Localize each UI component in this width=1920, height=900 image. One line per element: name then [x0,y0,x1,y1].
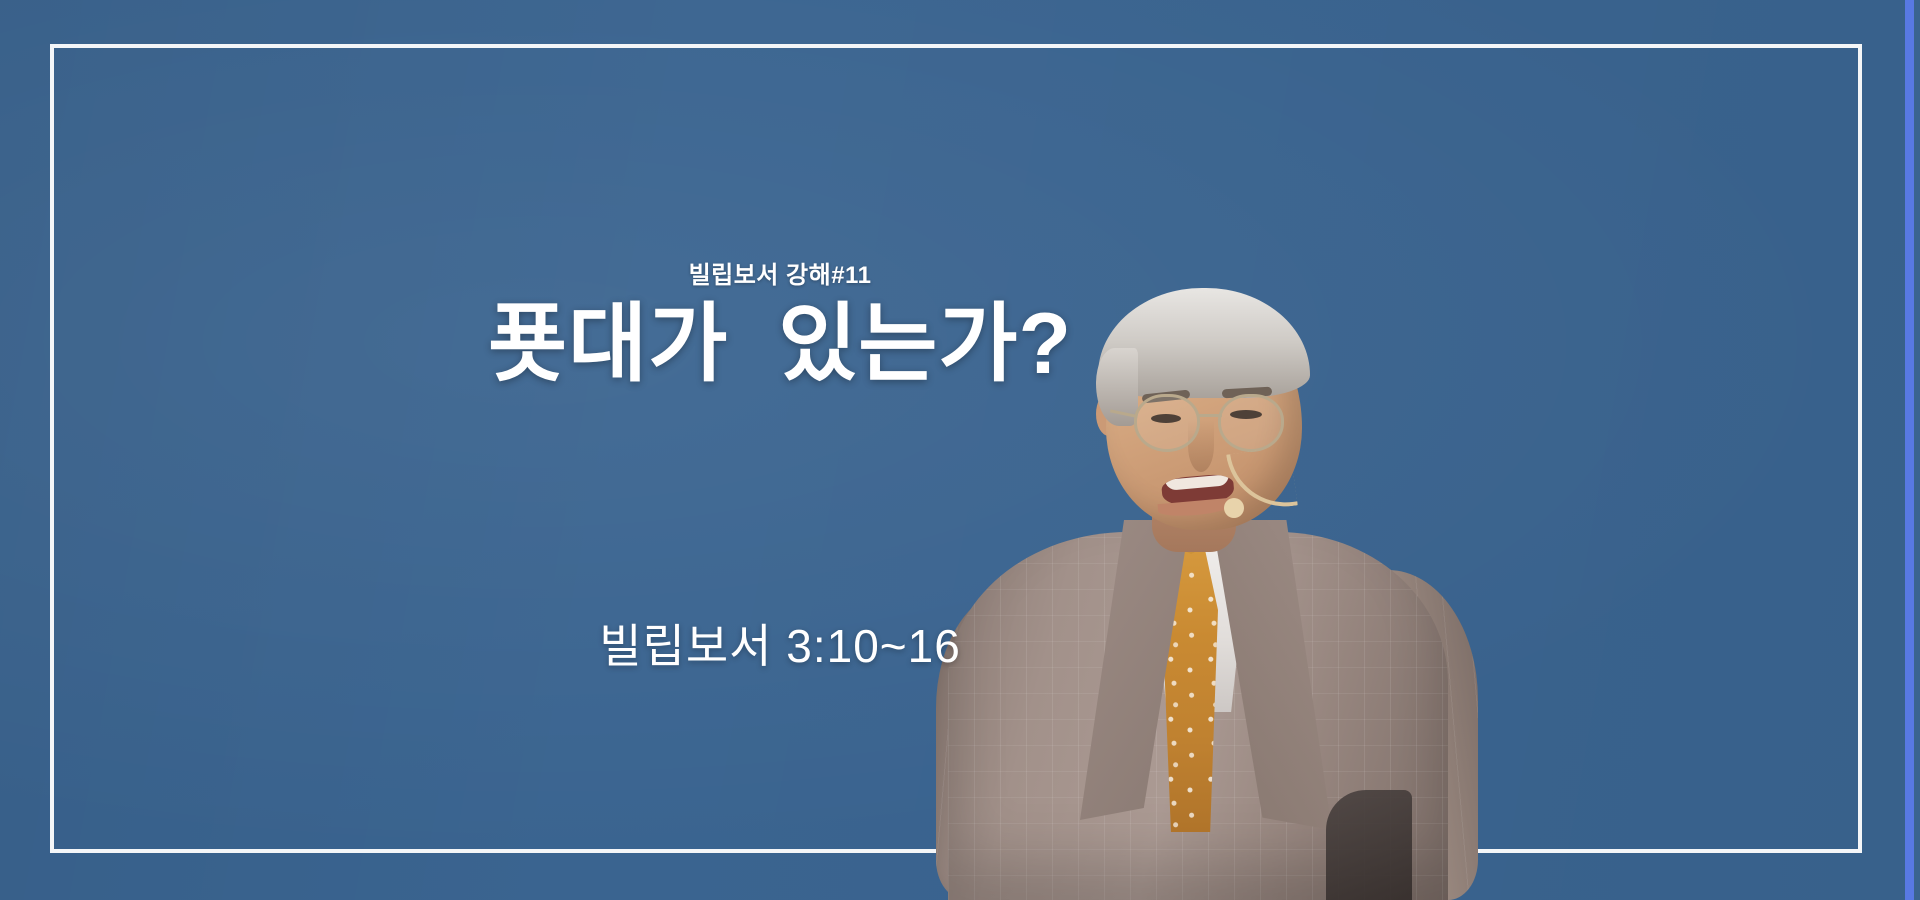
right-edge-accent-strip [1905,0,1914,900]
page-title: 푯대가 있는가? [0,295,1560,394]
right-edge-outer-margin [1914,0,1920,900]
title-text-block: 빌립보서 강해#11 푯대가 있는가? 빌립보서 3:10~16 [0,0,1560,900]
series-label: 빌립보서 강해#11 [0,255,1560,290]
scripture-reference: 빌립보서 3:10~16 [0,610,1560,676]
sermon-title-slide: 빌립보서 강해#11 푯대가 있는가? 빌립보서 3:10~16 [0,0,1920,900]
